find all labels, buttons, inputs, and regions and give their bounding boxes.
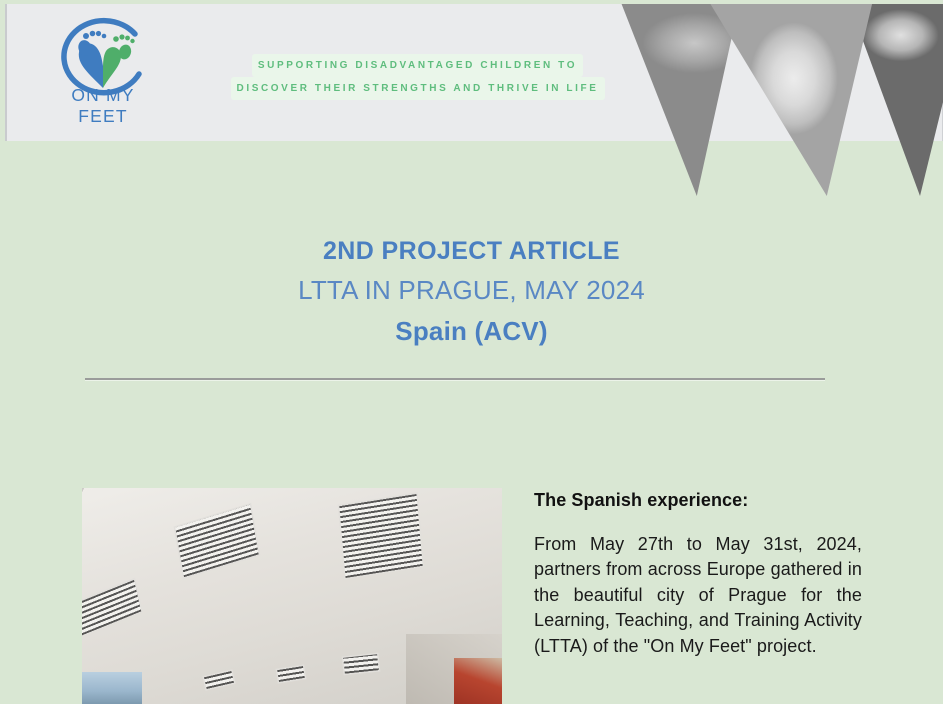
paragraph-body: From May 27th to May 31st, 2024, partner… [534,532,862,659]
classroom-ceiling-photo [82,488,502,704]
article-title-subtitle: LTTA IN PRAGUE, MAY 2024 [0,270,943,311]
tagline: SUPPORTING DISADVANTAGED CHILDREN TO DIS… [210,54,625,100]
logo-wordmark: ON MY FEET [47,85,159,127]
page-left-border [0,0,5,704]
site-header: ON MY FEET SUPPORTING DISADVANTAGED CHIL… [5,4,943,141]
title-divider [85,378,825,380]
ceiling-vent [339,494,422,578]
window [82,672,142,704]
article-page: ON MY FEET SUPPORTING DISADVANTAGED CHIL… [0,0,943,704]
article-title-country: Spain (ACV) [0,311,943,352]
paragraph-heading: The Spanish experience: [534,488,862,512]
tagline-line-2: DISCOVER THEIR STRENGTHS AND THRIVE IN L… [231,77,605,100]
page-top-border [0,0,943,4]
logo[interactable]: ON MY FEET [47,16,159,131]
article-title-primary: 2ND PROJECT ARTICLE [0,232,943,270]
notice-board [454,658,502,704]
tagline-line-1: SUPPORTING DISADVANTAGED CHILDREN TO [252,54,583,77]
article-content: The Spanish experience: From May 27th to… [82,488,862,704]
article-text-column: The Spanish experience: From May 27th to… [534,488,862,659]
article-title-block: 2ND PROJECT ARTICLE LTTA IN PRAGUE, MAY … [0,232,943,352]
